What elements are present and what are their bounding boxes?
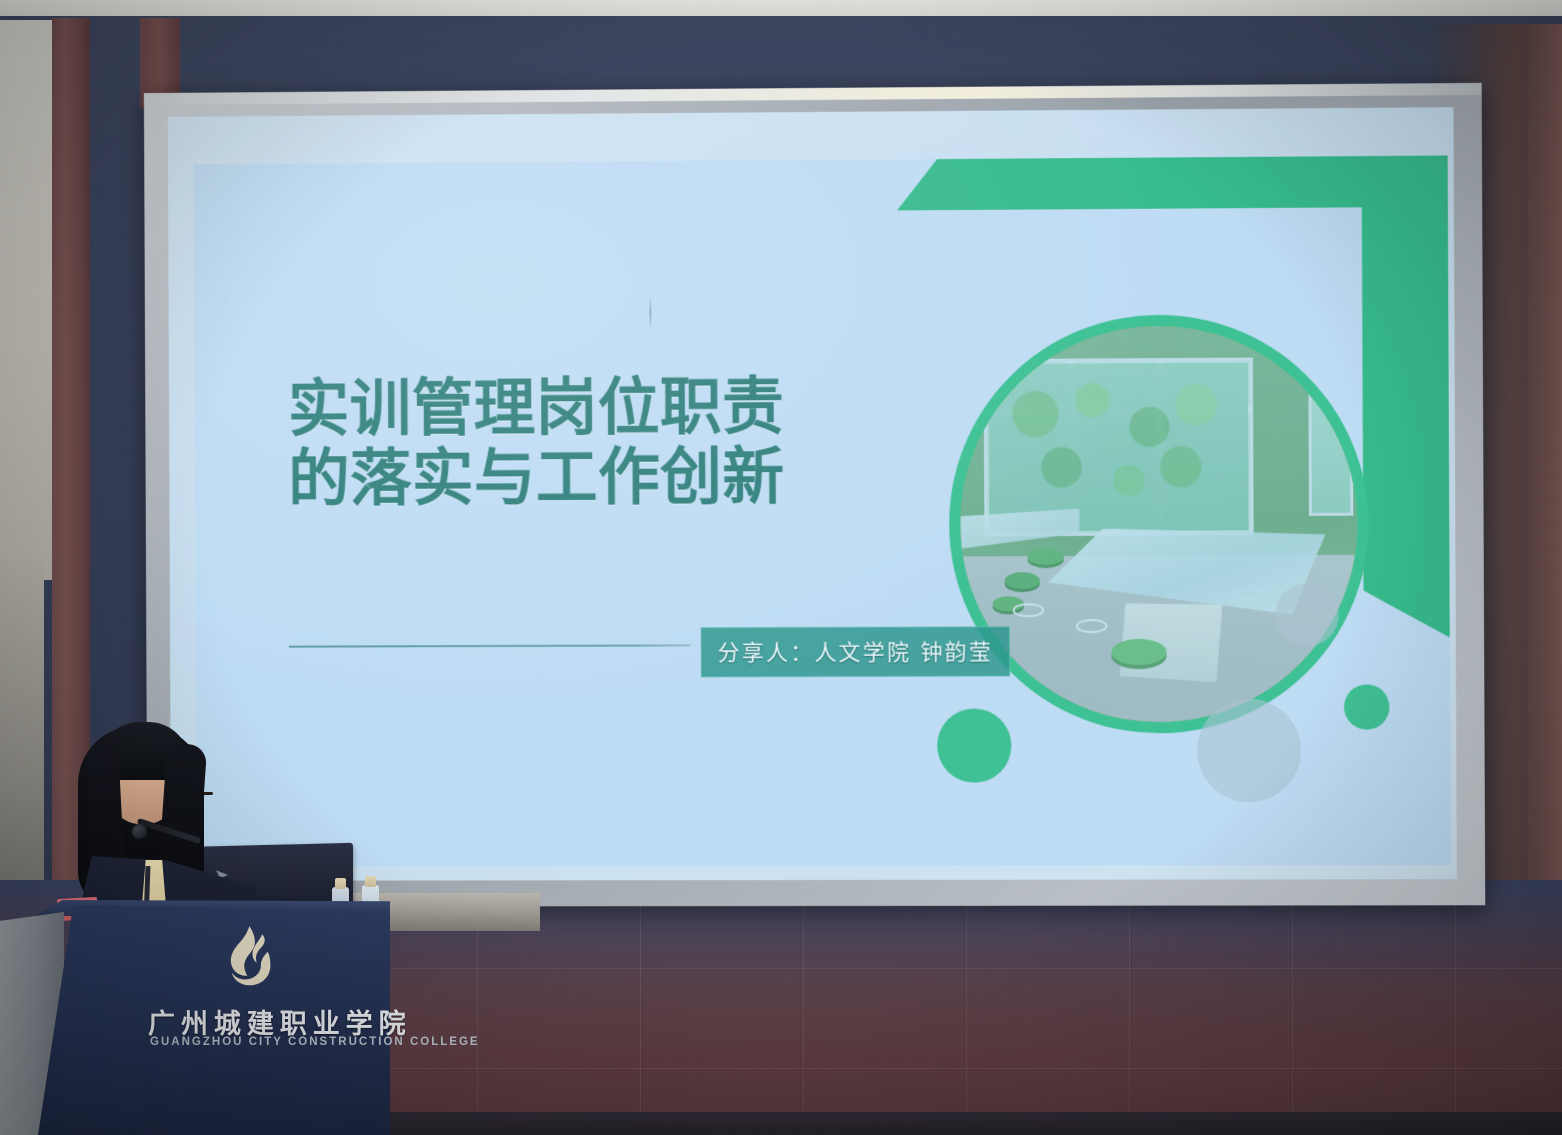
presentation-slide: 实训管理岗位职责 的落实与工作创新 分享人：人文学院 钟韵莹 xyxy=(194,156,1451,867)
slide-title: 实训管理岗位职责 的落实与工作创新 xyxy=(288,372,785,515)
green-circle-small-icon xyxy=(937,708,1011,782)
right-wall-edge xyxy=(1528,24,1562,924)
photo-stool xyxy=(1028,548,1064,565)
presentation-photo-scene: 实训管理岗位职责 的落实与工作创新 分享人：人文学院 钟韵莹 xyxy=(0,0,1562,1135)
slide-title-line-1: 实训管理岗位职责 xyxy=(288,372,785,445)
photo-window-right xyxy=(1309,381,1353,516)
photo-stool-base xyxy=(1076,619,1108,633)
photo-inner xyxy=(960,325,1358,722)
projection-surface: 实训管理岗位职责 的落实与工作创新 分享人：人文学院 钟韵莹 xyxy=(168,107,1457,881)
cursor-artifact-icon xyxy=(649,295,651,331)
slide-byline: 分享人：人文学院 钟韵莹 xyxy=(701,626,1011,677)
podium-institution-name-en: GUANGZHOU CITY CONSTRUCTION COLLEGE xyxy=(150,1036,480,1048)
flame-emblem-logo-icon xyxy=(216,922,284,990)
slide-circular-photo xyxy=(949,314,1369,733)
photo-foliage xyxy=(989,363,1249,532)
bottle-cap xyxy=(365,876,376,887)
presenter xyxy=(58,720,258,920)
photo-stool-base xyxy=(1012,604,1044,618)
bottle-cap xyxy=(335,878,346,889)
grey-circle-large-icon xyxy=(1197,699,1301,802)
microphone-icon xyxy=(132,824,147,839)
green-circle-xsmall-icon xyxy=(1344,684,1390,729)
grey-circle-medium-icon xyxy=(1275,583,1338,646)
projection-screen-frame: 实训管理岗位职责 的落实与工作创新 分享人：人文学院 钟韵莹 xyxy=(144,83,1485,907)
slide-title-line-2: 的落实与工作创新 xyxy=(288,443,785,516)
photo-window xyxy=(984,358,1254,537)
